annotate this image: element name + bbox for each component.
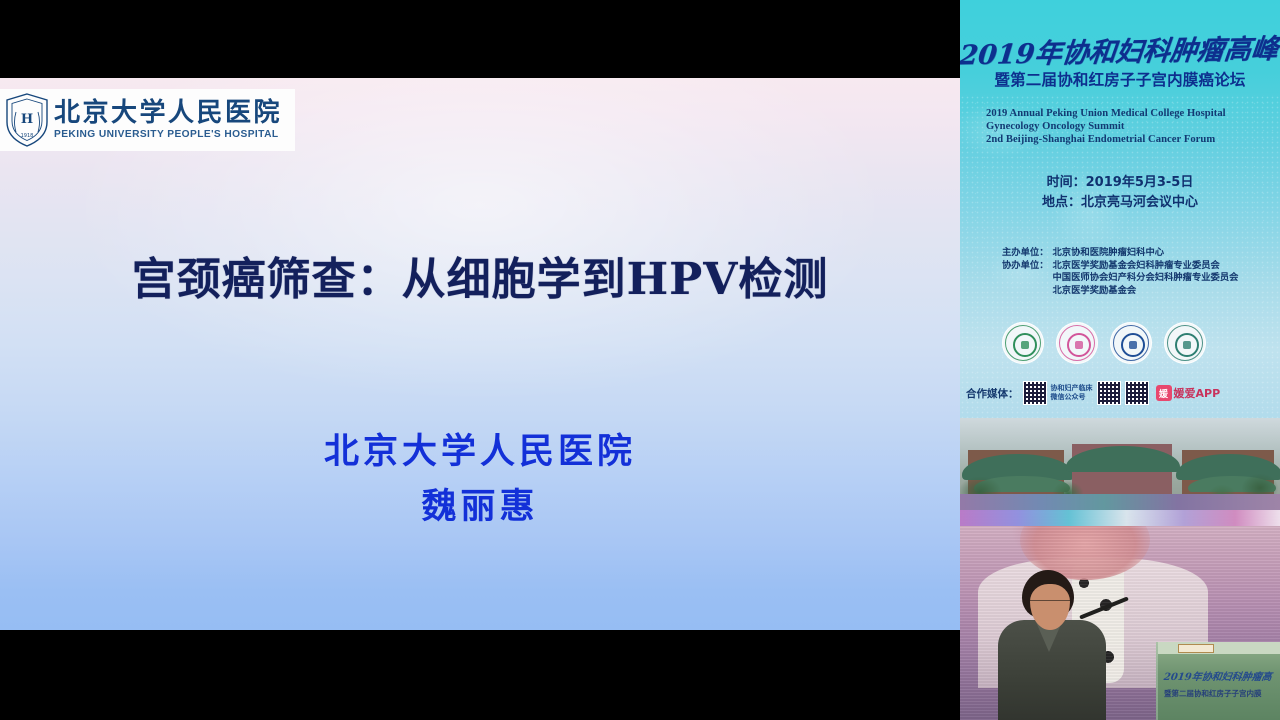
podium-banner-title: 2019年协和妇科肿瘤高 bbox=[1163, 668, 1280, 683]
org-logo-green bbox=[1002, 322, 1044, 364]
org-logo-green-core bbox=[1013, 333, 1037, 357]
media-partners-label: 合作媒体： bbox=[966, 386, 1019, 401]
speaker-figure bbox=[994, 570, 1110, 720]
org-logo-pink-core bbox=[1067, 333, 1091, 357]
conference-host-row: 主办单位： 北京协和医院肿瘤妇科中心 bbox=[1002, 247, 1272, 260]
conference-host-value-1: 北京协和医院肿瘤妇科中心 bbox=[1053, 247, 1165, 260]
wechat-qr-caption-line-2: 微信公众号 bbox=[1051, 393, 1093, 402]
wechat-qr-code-1 bbox=[1023, 381, 1047, 405]
conference-cohost-row: 协办单位： 北京医学奖励基金会妇科肿瘤专业委员会 中国医师协会妇产科分会妇科肿瘤… bbox=[1002, 260, 1272, 298]
hospital-name-cn: 北京大学人民医院 bbox=[54, 100, 282, 126]
organization-logos bbox=[1002, 322, 1238, 364]
slide-speaker-name: 魏丽惠 bbox=[0, 478, 960, 529]
media-app-badge: 媛 媛爱APP bbox=[1156, 385, 1221, 401]
svg-text:1918: 1918 bbox=[21, 133, 34, 139]
hospital-shield-icon: H 1918 bbox=[4, 92, 50, 148]
org-logo-teal bbox=[1164, 322, 1206, 364]
conference-cohost-value-3: 北京医学奖励基金会 bbox=[1053, 285, 1239, 298]
app-name-label: 媛爱APP bbox=[1174, 385, 1221, 401]
wechat-qr-code-3 bbox=[1125, 381, 1149, 405]
speaker-camera-feed: 2019年协和妇科肿瘤高 暨第二届协和红房子子宫内膜 bbox=[960, 510, 1280, 720]
podium-banner-subtitle: 暨第二届协和红房子子宫内膜 bbox=[1164, 688, 1280, 699]
svg-text:H: H bbox=[21, 112, 33, 127]
stage-light-band bbox=[960, 510, 1280, 526]
conference-title-en-line-3: 2nd Beijing-Shanghai Endometrial Cancer … bbox=[986, 133, 1266, 146]
podium-nameplate bbox=[1178, 644, 1214, 653]
org-logo-teal-core bbox=[1175, 333, 1199, 357]
conference-cohost-label: 协办单位： bbox=[1002, 260, 1049, 298]
hospital-logo-text: 北京大学人民医院 PEKING UNIVERSITY PEOPLE'S HOSP… bbox=[54, 100, 282, 140]
conference-organizers: 主办单位： 北京协和医院肿瘤妇科中心 协办单位： 北京医学奖励基金会妇科肿瘤专业… bbox=[1002, 247, 1272, 297]
presentation-slide: H 1918 北京大学人民医院 PEKING UNIVERSITY PEOPLE… bbox=[0, 78, 960, 630]
conference-cohost-value-1: 北京医学奖励基金会妇科肿瘤专业委员会 bbox=[1053, 260, 1239, 273]
app-logo-icon: 媛 bbox=[1156, 385, 1172, 401]
conference-host-label: 主办单位： bbox=[1002, 247, 1049, 260]
podium-surface bbox=[1158, 642, 1280, 654]
org-logo-blue bbox=[1110, 322, 1152, 364]
conference-title-en-line-1: 2019 Annual Peking Union Medical College… bbox=[986, 107, 1266, 120]
media-partners: 合作媒体： 协和妇产临床 微信公众号 媛 媛爱APP bbox=[966, 381, 1276, 405]
video-player-stage: H 1918 北京大学人民医院 PEKING UNIVERSITY PEOPLE… bbox=[0, 0, 1280, 720]
wechat-qr-code-2 bbox=[1097, 381, 1121, 405]
venue-photo bbox=[960, 418, 1280, 516]
hospital-name-en: PEKING UNIVERSITY PEOPLE'S HOSPITAL bbox=[54, 130, 282, 140]
conference-time-place: 时间：2019年5月3-5日 地点：北京亮马河会议中心 bbox=[960, 173, 1280, 213]
org-logo-pink bbox=[1056, 322, 1098, 364]
wechat-qr-caption-line-1: 协和妇产临床 bbox=[1051, 384, 1093, 393]
conference-host-values: 北京协和医院肿瘤妇科中心 bbox=[1053, 247, 1165, 260]
slide-video-pane: H 1918 北京大学人民医院 PEKING UNIVERSITY PEOPLE… bbox=[0, 0, 960, 720]
podium: 2019年协和妇科肿瘤高 暨第二届协和红房子子宫内膜 bbox=[1156, 642, 1280, 720]
conference-subtitle-cn: 暨第二届协和红房子子宫内膜癌论坛 bbox=[960, 68, 1280, 90]
conference-time-value: 2019年5月3-5日 bbox=[1086, 175, 1194, 190]
conference-place-label: 地点： bbox=[1042, 195, 1081, 210]
conference-time-label: 时间： bbox=[1047, 175, 1086, 190]
conference-place-value: 北京亮马河会议中心 bbox=[1081, 195, 1198, 210]
conference-title-cn: 2019年协和妇科肿瘤高峰论坛 bbox=[960, 27, 1280, 73]
hospital-logo: H 1918 北京大学人民医院 PEKING UNIVERSITY PEOPLE… bbox=[0, 89, 295, 151]
conference-time-row: 时间：2019年5月3-5日 bbox=[960, 173, 1280, 193]
wechat-qr-caption: 协和妇产临床 微信公众号 bbox=[1051, 384, 1093, 402]
conference-title-en-line-2: Gynecology Oncology Summit bbox=[986, 120, 1266, 133]
conference-title-en: 2019 Annual Peking Union Medical College… bbox=[986, 107, 1266, 147]
conference-cohost-value-2: 中国医师协会妇产科分会妇科肿瘤专业委员会 bbox=[1053, 272, 1239, 285]
conference-cohost-values: 北京医学奖励基金会妇科肿瘤专业委员会 中国医师协会妇产科分会妇科肿瘤专业委员会 … bbox=[1053, 260, 1239, 298]
slide-affiliation: 北京大学人民医院 bbox=[0, 423, 960, 474]
speaker-glasses-icon bbox=[1030, 600, 1070, 608]
org-logo-blue-core bbox=[1121, 333, 1145, 357]
conference-sidebar: 2019年协和妇科肿瘤高峰论坛 暨第二届协和红房子子宫内膜癌论坛 2019 An… bbox=[960, 0, 1280, 720]
conference-place-row: 地点：北京亮马河会议中心 bbox=[960, 193, 1280, 213]
slide-title: 宫颈癌筛查：从细胞学到HPV检测 bbox=[0, 243, 960, 307]
